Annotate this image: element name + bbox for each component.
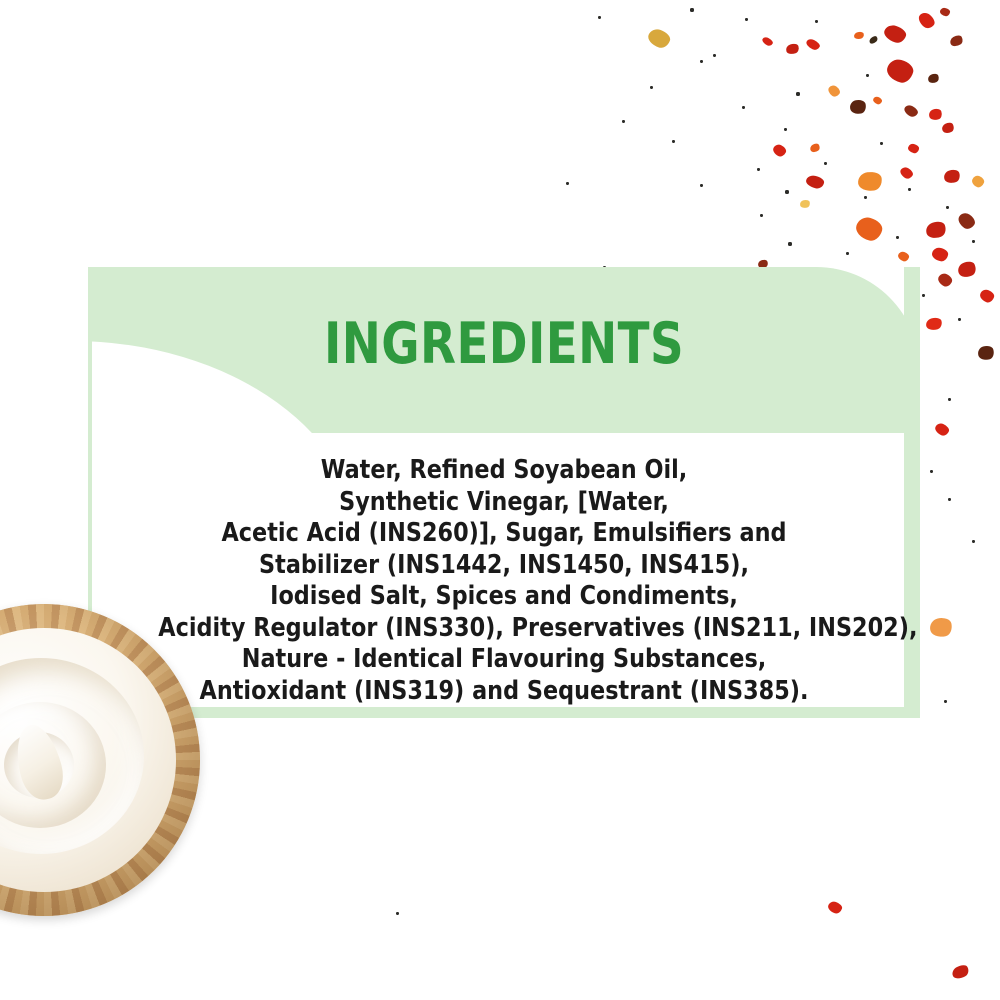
- chili-flake-icon: [970, 174, 985, 189]
- pepper-speck-icon: [760, 214, 763, 217]
- chili-flake-icon: [882, 23, 908, 45]
- pepper-speck-icon: [946, 206, 949, 209]
- pepper-speck-icon: [815, 20, 818, 23]
- pepper-speck-icon: [866, 74, 869, 77]
- chili-flake-icon: [853, 31, 864, 40]
- pepper-speck-icon: [972, 240, 975, 243]
- chili-flake-icon: [936, 272, 954, 289]
- chili-flake-icon: [933, 422, 950, 438]
- chili-flake-icon: [956, 210, 978, 231]
- pepper-speck-icon: [948, 398, 951, 401]
- chili-flake-icon: [771, 143, 788, 159]
- chili-flake-icon: [925, 316, 943, 332]
- pepper-speck-icon: [944, 700, 947, 703]
- chili-flake-icon: [805, 174, 825, 189]
- chili-flake-icon: [956, 259, 979, 280]
- chili-flake-icon: [872, 96, 883, 106]
- ingredient-line: Acidity Regulator (INS330), Preservative…: [158, 613, 849, 645]
- ingredient-line: Acetic Acid (INS260)], Sugar, Emulsifier…: [158, 518, 849, 550]
- pepper-speck-icon: [690, 8, 694, 12]
- pepper-speck-icon: [396, 912, 399, 915]
- pepper-speck-icon: [958, 318, 961, 321]
- chili-flake-icon: [939, 7, 950, 17]
- ingredient-line: Nature - Identical Flavouring Substances…: [158, 644, 849, 676]
- chili-flake-icon: [809, 142, 822, 154]
- pepper-speck-icon: [785, 190, 789, 194]
- chili-flake-icon: [827, 900, 844, 915]
- chili-flake-icon: [942, 168, 961, 185]
- pepper-speck-icon: [948, 498, 951, 501]
- chili-flake-icon: [897, 251, 910, 263]
- pepper-speck-icon: [796, 92, 800, 96]
- chili-flake-icon: [857, 170, 883, 192]
- chili-flake-icon: [761, 36, 774, 47]
- chili-flake-icon: [853, 215, 884, 243]
- pepper-speck-icon: [788, 242, 792, 246]
- ingredients-card: INGREDIENTS Water, Refined Soyabean Oil,…: [88, 267, 920, 718]
- pepper-speck-icon: [757, 168, 760, 171]
- pepper-speck-icon: [972, 540, 975, 543]
- pepper-speck-icon: [713, 54, 716, 57]
- pepper-speck-icon: [650, 86, 653, 89]
- chili-flake-icon: [916, 10, 937, 31]
- chili-flake-icon: [646, 27, 672, 50]
- pepper-speck-icon: [846, 252, 849, 255]
- pepper-speck-icon: [908, 188, 911, 191]
- chili-flake-icon: [885, 57, 916, 85]
- ingredients-label-image: INGREDIENTS Water, Refined Soyabean Oil,…: [0, 0, 1000, 1000]
- chili-flake-icon: [907, 143, 920, 154]
- ingredient-line: Iodised Salt, Spices and Condiments,: [158, 581, 849, 613]
- pepper-speck-icon: [824, 162, 827, 165]
- banner-left-rim: [88, 267, 92, 433]
- chili-flake-icon: [931, 247, 949, 263]
- chili-flake-icon: [924, 219, 948, 241]
- chili-flake-icon: [928, 616, 953, 639]
- chili-flake-icon: [927, 72, 941, 84]
- chili-flake-icon: [799, 199, 810, 209]
- pepper-speck-icon: [930, 470, 933, 473]
- pepper-speck-icon: [864, 196, 867, 199]
- chili-flake-icon: [978, 288, 995, 304]
- chili-flake-icon: [849, 99, 867, 116]
- chili-flake-icon: [976, 344, 995, 362]
- pepper-speck-icon: [566, 182, 569, 185]
- pepper-speck-icon: [622, 120, 625, 123]
- ingredient-line: Water, Refined Soyabean Oil,: [158, 455, 849, 487]
- chili-flake-icon: [928, 107, 944, 121]
- pepper-speck-icon: [922, 294, 925, 297]
- pepper-speck-icon: [742, 106, 745, 109]
- chili-flake-icon: [888, 67, 898, 76]
- ingredient-line: Stabilizer (INS1442, INS1450, INS415),: [158, 550, 849, 582]
- page-title: INGREDIENTS: [163, 313, 845, 375]
- chili-flake-icon: [785, 42, 800, 56]
- chili-flake-icon: [948, 33, 964, 48]
- ingredient-line: Antioxidant (INS319) and Sequestrant (IN…: [158, 676, 849, 708]
- pepper-speck-icon: [784, 128, 787, 131]
- pepper-speck-icon: [598, 16, 601, 19]
- pepper-speck-icon: [880, 142, 883, 145]
- pepper-speck-icon: [745, 18, 748, 21]
- chili-flake-icon: [805, 37, 822, 51]
- chili-flake-icon: [826, 83, 842, 98]
- pepper-speck-icon: [700, 60, 703, 63]
- ingredient-line: Synthetic Vinegar, [Water,: [158, 487, 849, 519]
- chili-flake-icon: [940, 121, 955, 135]
- ingredients-text-block: Water, Refined Soyabean Oil,Synthetic Vi…: [102, 455, 906, 707]
- chili-flake-icon: [868, 35, 879, 45]
- chili-flake-icon: [902, 103, 919, 118]
- pepper-speck-icon: [700, 184, 703, 187]
- pepper-speck-icon: [672, 140, 675, 143]
- chili-flake-icon: [898, 165, 914, 180]
- chili-flake-icon: [950, 963, 971, 982]
- pepper-speck-icon: [896, 236, 899, 239]
